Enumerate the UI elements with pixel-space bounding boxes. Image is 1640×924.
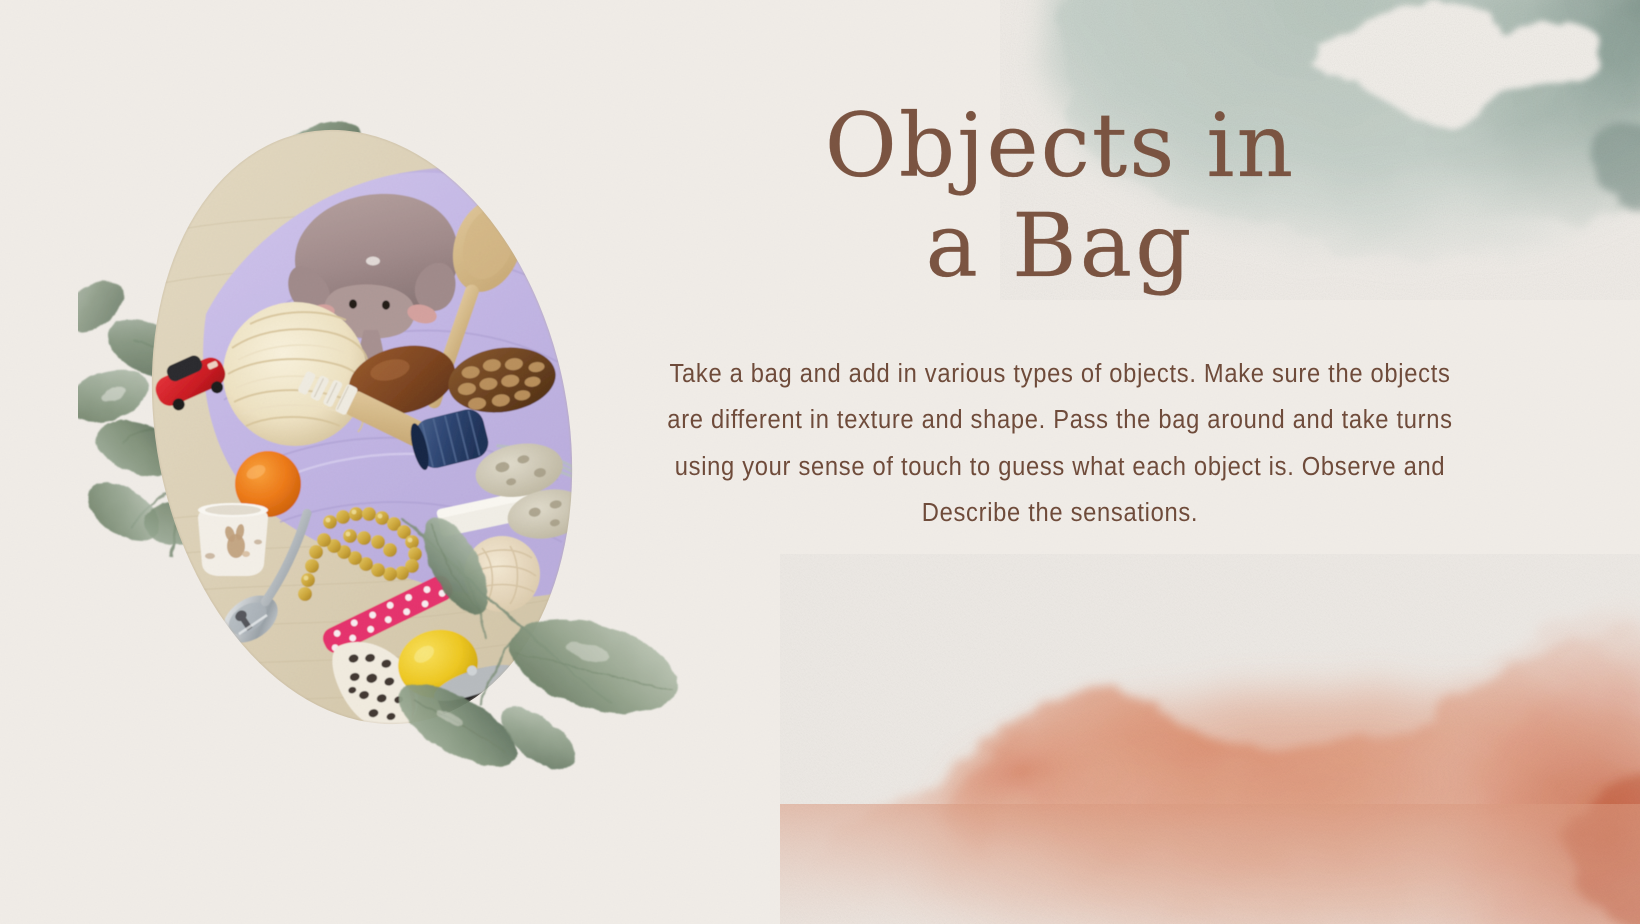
text-column: Objects in a Bag Take a bag and add in v… <box>620 96 1500 537</box>
watercolor-coral-wash <box>780 554 1640 924</box>
title-line-2: a Bag <box>620 196 1500 296</box>
page-title: Objects in a Bag <box>620 96 1500 297</box>
title-line-1: Objects in <box>620 96 1500 196</box>
objects-in-a-bag-photo <box>150 118 574 736</box>
instructions-paragraph: Take a bag and add in various types of o… <box>665 351 1456 537</box>
poster-canvas: Objects in a Bag Take a bag and add in v… <box>0 0 1640 924</box>
